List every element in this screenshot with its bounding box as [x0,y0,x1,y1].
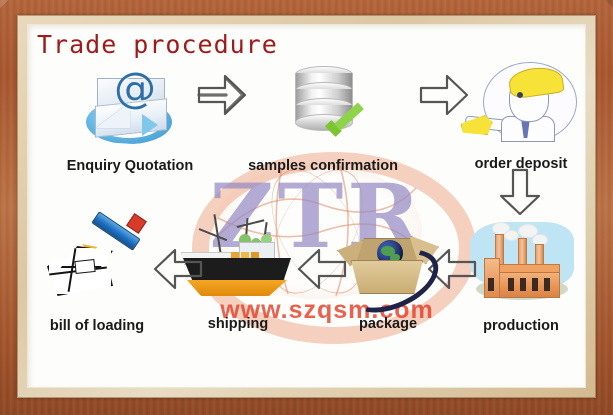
wooden-picture-frame: ZTR www.szqsm.com Trade procedure @ Enqu… [0,0,613,415]
open-box-globe-icon [333,218,443,304]
step-label-package: package [323,316,453,332]
arrow-package-to-shipping [295,246,349,292]
factory-icon [462,220,580,306]
step-samples-confirmation: samples confirmation [223,62,423,174]
parcel-pen-icon [41,220,153,306]
person-cash-icon [461,60,581,146]
diagram-canvas: ZTR www.szqsm.com Trade procedure @ Enqu… [27,24,586,388]
database-check-icon [277,62,369,148]
step-order-deposit: order deposit [451,60,586,172]
arrow-deposit-to-production [497,166,543,218]
step-label-shipping: shipping [173,316,303,332]
email-at-icon: @ [84,62,176,148]
step-bill-of-loading: bill of loading [27,220,167,334]
step-label-production: production [451,318,586,334]
page-title: Trade procedure [37,30,278,59]
step-label-enquiry: Enquiry Quotation [35,158,225,174]
step-label-bill: bill of loading [27,318,167,334]
step-label-samples: samples confirmation [223,158,423,174]
